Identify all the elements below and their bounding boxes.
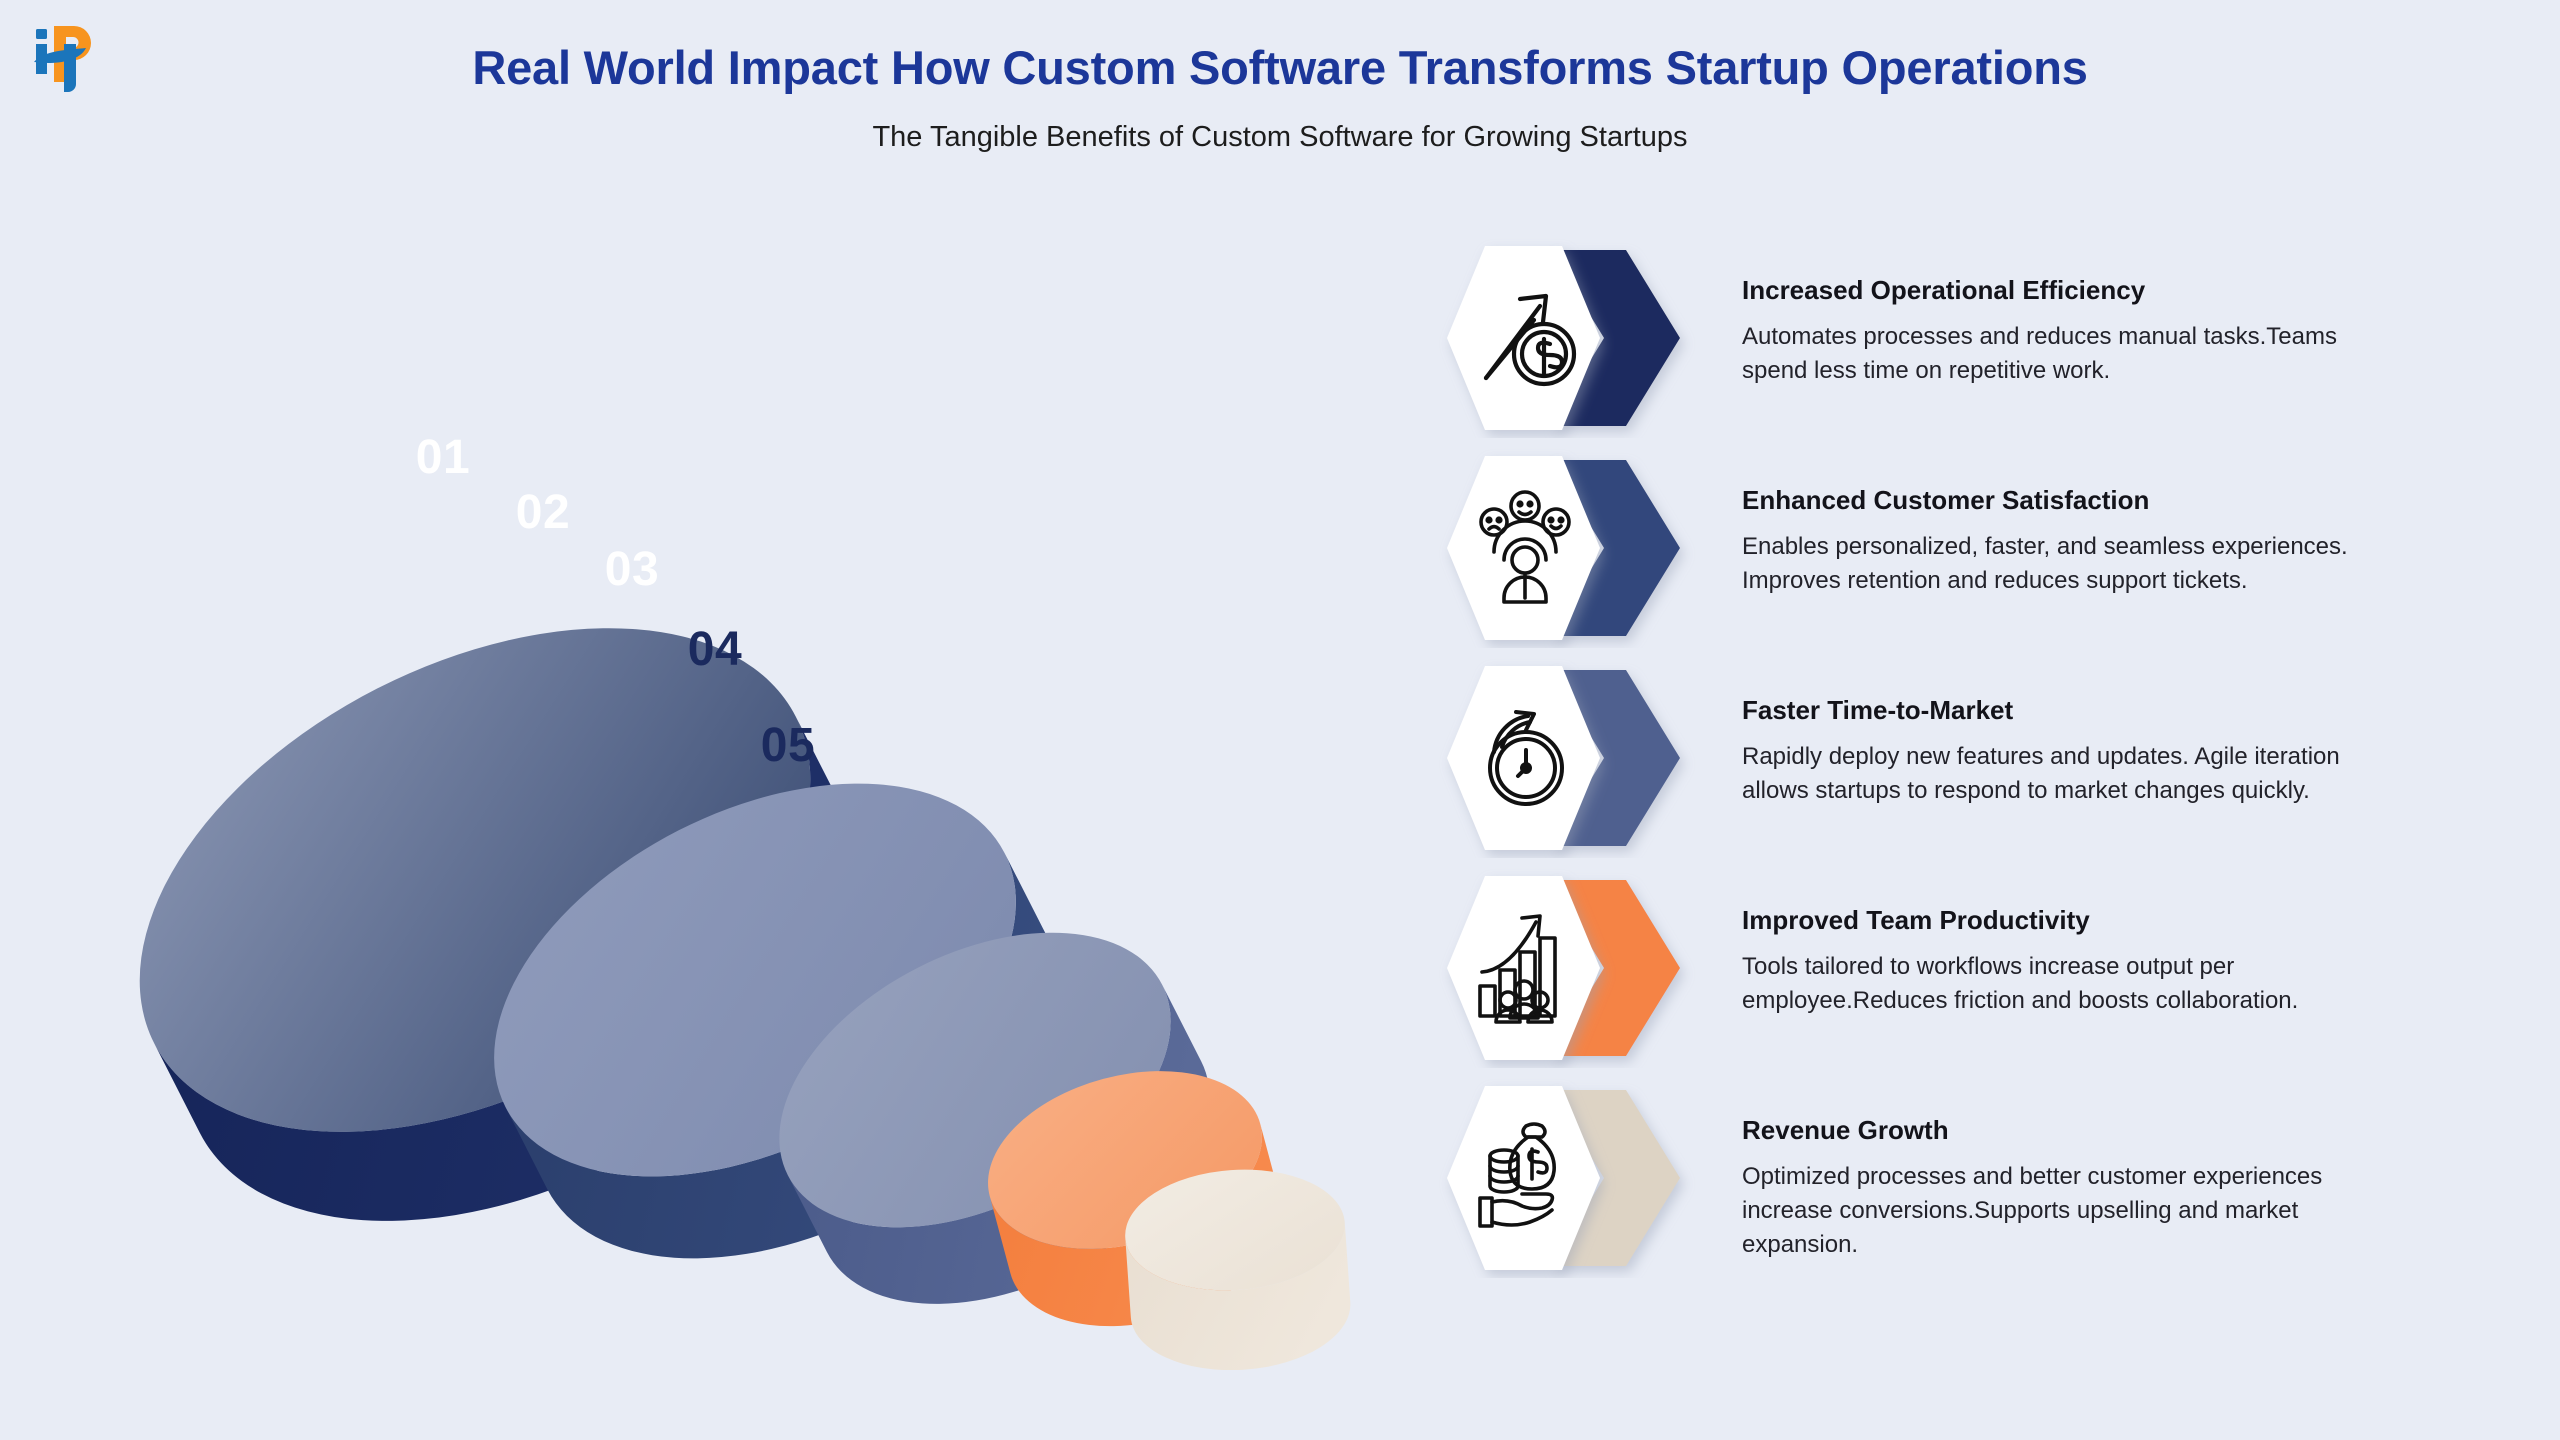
benefit-item[interactable]: Revenue Growth Optimized processes and b…	[1430, 1078, 2530, 1288]
benefit-badge[interactable]	[1430, 868, 1720, 1068]
benefit-description: Automates processes and reduces manual t…	[1742, 320, 2362, 388]
benefit-title: Increased Operational Efficiency	[1742, 275, 2362, 306]
funnel-label-01: 01	[416, 431, 470, 484]
benefit-item[interactable]: Increased Operational Efficiency Automat…	[1430, 238, 2530, 448]
benefits-list: Increased Operational Efficiency Automat…	[1430, 238, 2530, 1288]
header: Real World Impact How Custom Software Tr…	[0, 42, 2560, 154]
benefit-item[interactable]: Enhanced Customer Satisfaction Enables p…	[1430, 448, 2530, 658]
benefit-text: Increased Operational Efficiency Automat…	[1720, 238, 2362, 388]
benefit-item[interactable]: Improved Team Productivity Tools tailore…	[1430, 868, 2530, 1078]
ip-logo	[22, 14, 108, 100]
benefit-text: Faster Time-to-Market Rapidly deploy new…	[1720, 658, 2362, 808]
benefit-text: Revenue Growth Optimized processes and b…	[1720, 1078, 2362, 1262]
benefit-badge[interactable]	[1430, 1078, 1720, 1278]
funnel-label-04: 04	[688, 623, 742, 676]
benefit-title: Faster Time-to-Market	[1742, 695, 2362, 726]
funnel-label-02: 02	[516, 486, 570, 539]
funnel-label-03: 03	[605, 543, 659, 596]
page-title: Real World Impact How Custom Software Tr…	[0, 42, 2560, 94]
benefit-text: Enhanced Customer Satisfaction Enables p…	[1720, 448, 2362, 598]
benefit-badge[interactable]	[1430, 658, 1720, 858]
benefit-item[interactable]: Faster Time-to-Market Rapidly deploy new…	[1430, 658, 2530, 868]
benefit-title: Revenue Growth	[1742, 1115, 2362, 1146]
benefit-title: Enhanced Customer Satisfaction	[1742, 485, 2362, 516]
funnel-label-05: 05	[761, 719, 815, 772]
benefit-badge[interactable]	[1430, 448, 1720, 648]
benefit-badge[interactable]	[1430, 238, 1720, 438]
funnel-diagram: 01 02 03 04 05	[55, 360, 1455, 1370]
benefit-description: Enables personalized, faster, and seamle…	[1742, 530, 2362, 598]
benefit-description: Tools tailored to workflows increase out…	[1742, 950, 2362, 1018]
benefit-description: Rapidly deploy new features and updates.…	[1742, 740, 2362, 808]
benefit-title: Improved Team Productivity	[1742, 905, 2362, 936]
benefit-text: Improved Team Productivity Tools tailore…	[1720, 868, 2362, 1018]
benefit-description: Optimized processes and better customer …	[1742, 1160, 2362, 1262]
funnel-stage-05	[1121, 1162, 1354, 1370]
page-subtitle: The Tangible Benefits of Custom Software…	[0, 121, 2560, 154]
